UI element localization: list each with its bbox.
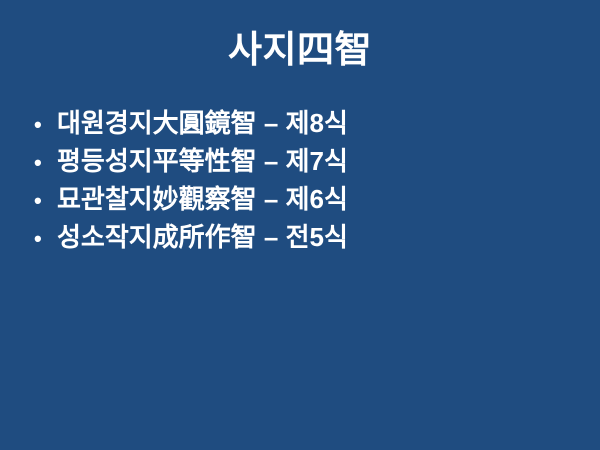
page-title: 사지四智 <box>0 27 600 73</box>
list-item: • 성소작지成所作智 – 전5식 <box>34 218 574 256</box>
list-item: • 묘관찰지妙觀察智 – 제6식 <box>34 180 574 218</box>
bullet-point-icon: • <box>34 106 57 144</box>
list-item: • 평등성지平等性智 – 제7식 <box>34 142 574 180</box>
list-item-label: 묘관찰지妙觀察智 – 제6식 <box>57 180 348 218</box>
list-item-label: 성소작지成所作智 – 전5식 <box>57 218 348 256</box>
bullet-list: • 대원경지大圓鏡智 – 제8식 • 평등성지平等性智 – 제7식 • 묘관찰지… <box>34 104 574 256</box>
bullet-point-icon: • <box>34 144 57 182</box>
bullet-point-icon: • <box>34 220 57 258</box>
bullet-point-icon: • <box>34 182 57 220</box>
list-item-label: 평등성지平等性智 – 제7식 <box>57 142 348 180</box>
list-item-label: 대원경지大圓鏡智 – 제8식 <box>57 104 348 142</box>
list-item: • 대원경지大圓鏡智 – 제8식 <box>34 104 574 142</box>
presentation-slide: 사지四智 • 대원경지大圓鏡智 – 제8식 • 평등성지平等性智 – 제7식 •… <box>0 0 600 450</box>
